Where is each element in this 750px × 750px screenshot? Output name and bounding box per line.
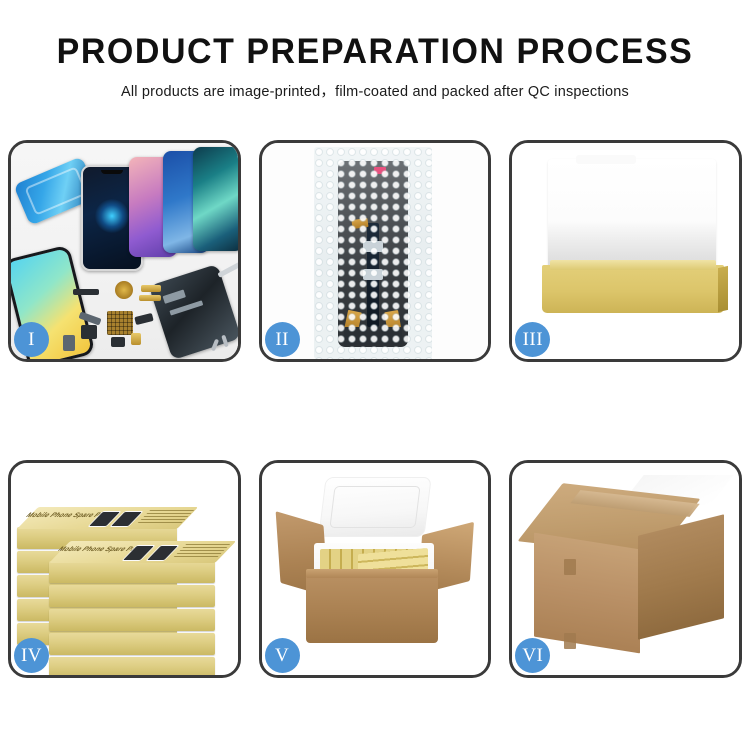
carton-body xyxy=(306,575,438,643)
bubble-texture xyxy=(314,147,432,359)
step-badge-5: V xyxy=(265,638,300,673)
retail-box xyxy=(49,657,215,675)
foam-lid-tab xyxy=(576,155,636,164)
page-subtitle: All products are image-printed，film-coat… xyxy=(0,80,750,101)
foam-lid-open xyxy=(318,477,431,537)
flex-connector-part xyxy=(141,285,161,292)
retail-box: Mobile Phone Spare Parts xyxy=(49,561,215,583)
logic-board-chip xyxy=(107,311,133,335)
retail-box xyxy=(49,585,215,607)
carton-front-face xyxy=(534,533,640,654)
step-panel-5[interactable]: V xyxy=(259,460,492,678)
box-tray-side xyxy=(718,266,728,312)
process-row-bottom: Mobile Phone Spare Parts Mobile Phone Sp… xyxy=(8,460,742,678)
carton-side-face xyxy=(638,514,724,639)
housing-chip xyxy=(163,289,186,303)
box-tray-lip xyxy=(550,260,716,270)
earpiece-mesh-part xyxy=(73,289,99,295)
bubble-wrap-bag xyxy=(314,147,432,359)
step-panel-4[interactable]: Mobile Phone Spare Parts Mobile Phone Sp… xyxy=(8,460,241,678)
step-badge-4: IV xyxy=(14,638,49,673)
step-panel-2[interactable]: II xyxy=(259,140,492,362)
camera-module-part xyxy=(81,325,97,339)
step-image-2 xyxy=(262,143,489,359)
foam-lid xyxy=(548,159,716,271)
flex-connector-part xyxy=(139,295,161,301)
retail-box xyxy=(49,633,215,655)
vibrator-part xyxy=(111,337,125,347)
step-badge-2: II xyxy=(265,322,300,357)
process-row-top: I xyxy=(8,140,742,362)
page-title: PRODUCT PREPARATION PROCESS xyxy=(11,34,739,71)
carton-seam xyxy=(564,559,576,575)
step-panel-3[interactable]: III xyxy=(509,140,742,362)
step-badge-1: I xyxy=(14,322,49,357)
phone-display-teal xyxy=(193,147,238,251)
process-steps-grid: I xyxy=(8,140,742,678)
kraft-box-tray xyxy=(542,265,724,313)
page-header: PRODUCT PREPARATION PROCESS All products… xyxy=(0,0,750,101)
screen-artwork xyxy=(95,199,129,233)
housing-chip xyxy=(169,300,203,315)
step-panel-1[interactable]: I xyxy=(8,140,241,362)
step-panel-6[interactable]: VI xyxy=(509,460,742,678)
step-image-1 xyxy=(11,143,238,359)
retail-box xyxy=(49,609,215,631)
phone-notch xyxy=(101,170,123,174)
step-image-6 xyxy=(512,463,739,675)
retail-box-stack: Mobile Phone Spare Parts Mobile Phone Sp… xyxy=(11,463,238,675)
carton-seam xyxy=(564,633,576,649)
speaker-coil-part xyxy=(115,281,133,299)
step-image-4: Mobile Phone Spare Parts Mobile Phone Sp… xyxy=(11,463,238,675)
button-part xyxy=(63,335,75,351)
sim-tray-part xyxy=(131,333,141,345)
step-image-3 xyxy=(512,143,739,359)
